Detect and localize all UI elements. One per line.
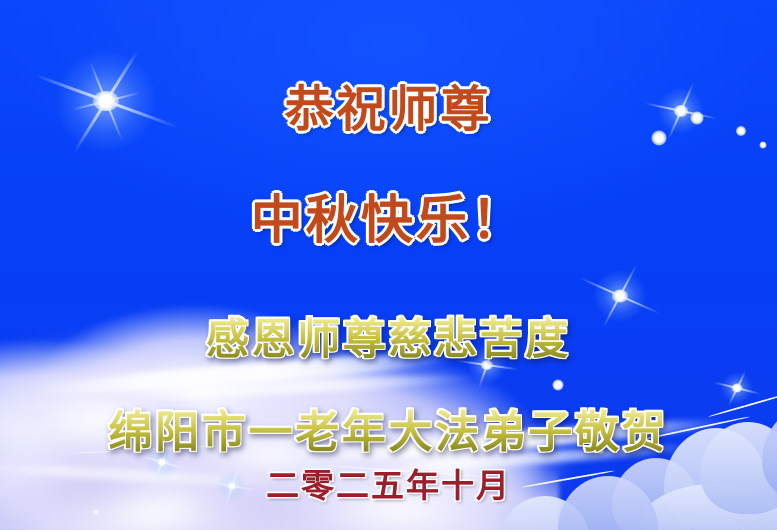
text-block: 恭祝师尊 中秋快乐！ 感恩师尊慈悲苦度 绵阳市一老年大法弟子敬贺 二零二五年十月 [0, 0, 777, 530]
date-line: 二零二五年十月 [0, 459, 777, 507]
greeting-card: 恭祝师尊 中秋快乐！ 感恩师尊慈悲苦度 绵阳市一老年大法弟子敬贺 二零二五年十月 [0, 0, 777, 530]
message-line-2: 绵阳市一老年大法弟子敬贺 [0, 396, 777, 460]
greeting-line-1: 恭祝师尊 [0, 70, 777, 141]
greeting-line-2: 中秋快乐！ [0, 178, 777, 253]
message-line-1: 感恩师尊慈悲苦度 [0, 305, 777, 367]
